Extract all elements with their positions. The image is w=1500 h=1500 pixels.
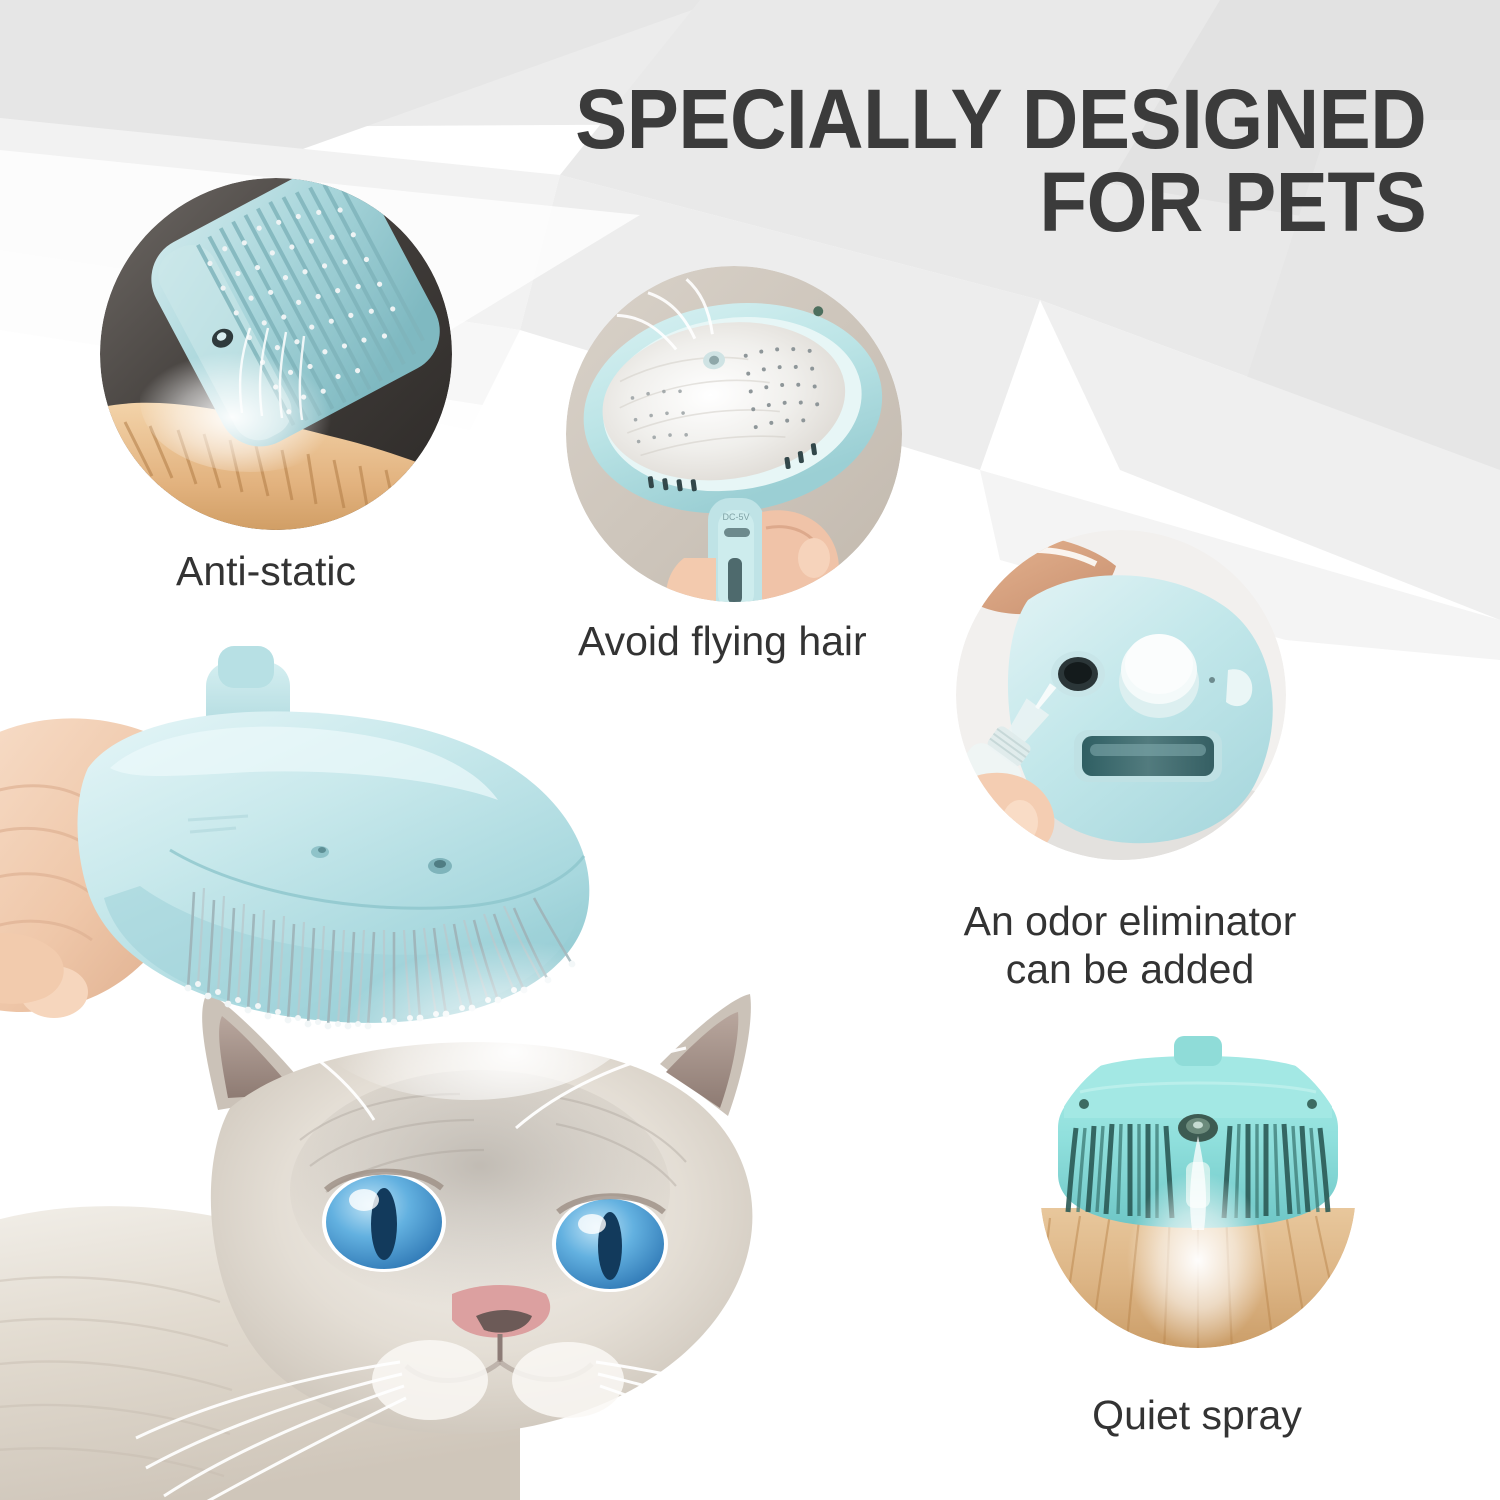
odor-eliminator-photo (956, 530, 1286, 860)
caption-avoid-flying-hair: Avoid flying hair (578, 618, 867, 666)
headline-line-1: SPECIALLY DESIGNED (575, 78, 1426, 161)
headline: SPECIALLY DESIGNED FOR PETS (511, 78, 1426, 244)
cat-right-eye (552, 1196, 668, 1292)
cat-left-eye (322, 1172, 446, 1272)
svg-text:DC-5V: DC-5V (722, 512, 749, 522)
quiet-spray-photo (1040, 1032, 1356, 1348)
feature-inset-avoid-flying-hair: DC-5V (566, 266, 902, 602)
hero-product-photo (0, 640, 670, 1110)
caption-anti-static: Anti-static (176, 548, 356, 596)
anti-static-photo (100, 178, 452, 530)
caption-odor-eliminator: An odor eliminator can be added (964, 898, 1297, 993)
marketing-image: SPECIALLY DESIGNED FOR PETS (0, 0, 1500, 1500)
headline-line-2: FOR PETS (575, 161, 1426, 244)
feature-inset-anti-static (100, 178, 452, 530)
feature-inset-odor-eliminator (956, 530, 1286, 860)
avoid-flying-hair-photo: DC-5V (566, 266, 902, 602)
feature-inset-quiet-spray (1040, 1032, 1356, 1348)
caption-quiet-spray: Quiet spray (1092, 1392, 1302, 1440)
